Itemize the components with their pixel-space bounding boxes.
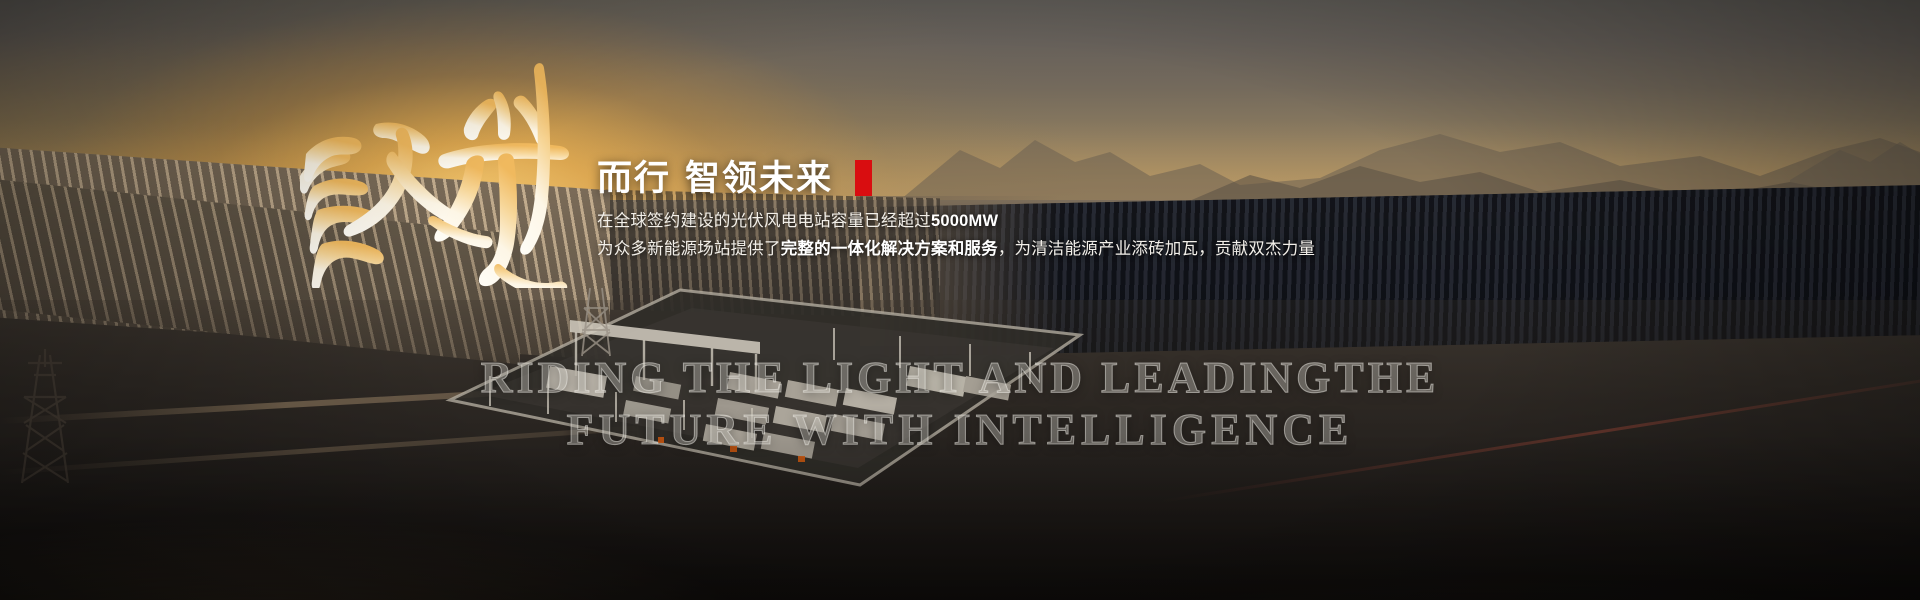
subtitle-line-1: 在全球签约建设的光伏风电电站容量已经超过5000MW (597, 209, 1317, 235)
headline-part1: 而行 (597, 161, 671, 196)
subtitle-line1-prefix: 在全球签约建设的光伏风电电站容量已经超过 (597, 212, 931, 230)
subtitle-line2-suffix: ，为清洁能源产业添砖加瓦，贡献双杰力量 (998, 240, 1315, 258)
subtitle-line-2: 为众多新能源场站提供了完整的一体化解决方案和服务，为清洁能源产业添砖加瓦，贡献双… (597, 237, 1317, 263)
substation-facility (430, 280, 1130, 520)
hero-banner: 而行 智领未来 在全球签约建设的光伏风电电站容量已经超过5000MW 为众多新能… (0, 0, 1920, 600)
accent-red-block (855, 160, 872, 196)
banner-copy: 而行 智领未来 在全球签约建设的光伏风电电站容量已经超过5000MW 为众多新能… (597, 160, 1317, 262)
headline-part2: 智领未来 (685, 161, 833, 196)
headline: 而行 智领未来 (597, 160, 1317, 196)
subtitle-line2-prefix: 为众多新能源场站提供了 (597, 240, 781, 258)
subtitle-line2-highlight: 完整的一体化解决方案和服务 (781, 240, 998, 258)
transmission-pylon (10, 345, 80, 485)
subtitle-capacity-value: 5000MW (931, 212, 998, 230)
